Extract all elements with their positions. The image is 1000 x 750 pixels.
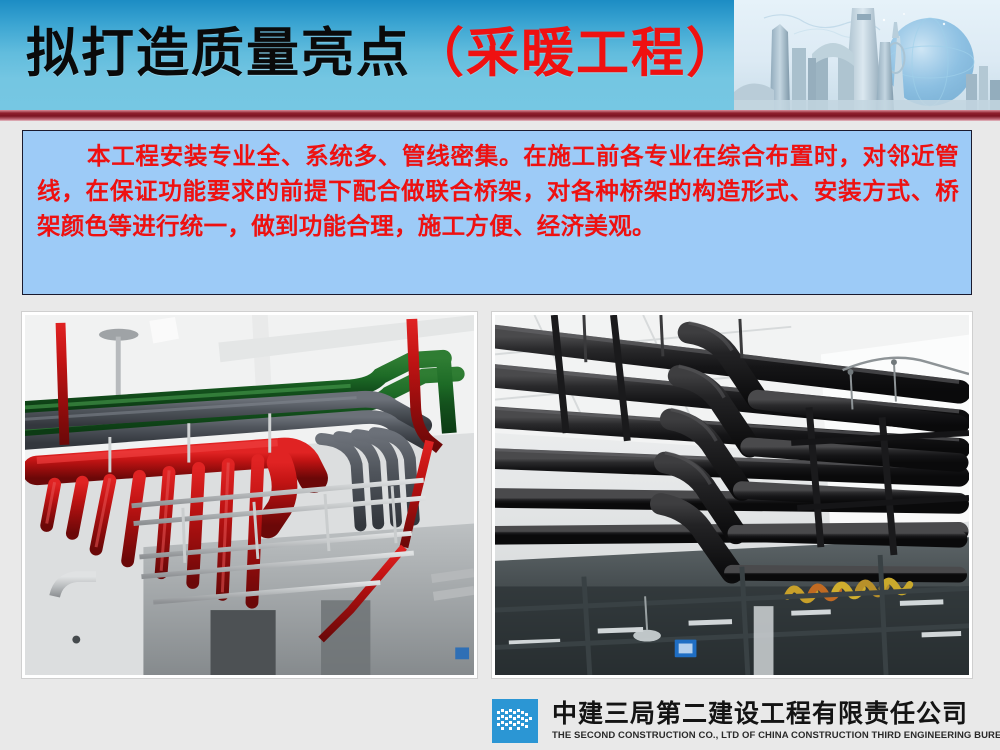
- company-name-en: THE SECOND CONSTRUCTION CO., LTD OF CHIN…: [552, 729, 1000, 743]
- cscec-logo-glyph: [496, 708, 534, 734]
- header-divider: [0, 110, 1000, 121]
- content-paragraph: 本工程安装专业全、系统多、管线密集。在施工前各专业在综合布置时，对邻近管线，在保…: [23, 131, 971, 244]
- skyline-image: [734, 0, 1000, 110]
- footer-company-block: 中建三局第二建设工程有限责任公司 THE SECOND CONSTRUCTION…: [492, 698, 987, 744]
- slide-header: 拟打造质量亮点（采暖工程）: [0, 0, 1000, 110]
- skyline-artwork-icon: [734, 0, 1000, 110]
- footer-text-group: 中建三局第二建设工程有限责任公司 THE SECOND CONSTRUCTION…: [552, 700, 1000, 743]
- colored-pipes-photo-graphic: [25, 315, 474, 675]
- content-textbox: 本工程安装专业全、系统多、管线密集。在施工前各专业在综合布置时，对邻近管线，在保…: [22, 130, 972, 295]
- black-pipes-photo-graphic: [495, 315, 969, 675]
- photo-garage-black-insulated-pipes: [492, 312, 972, 678]
- page-title-main: 拟打造质量亮点: [26, 25, 411, 83]
- cscec-logo-icon: [492, 699, 538, 743]
- page-title: 拟打造质量亮点（采暖工程）: [26, 22, 741, 86]
- photo-mechanical-room-colored-pipes: [22, 312, 477, 678]
- company-name-cn: 中建三局第二建设工程有限责任公司: [552, 700, 1000, 728]
- page-title-accent: （采暖工程）: [411, 25, 741, 83]
